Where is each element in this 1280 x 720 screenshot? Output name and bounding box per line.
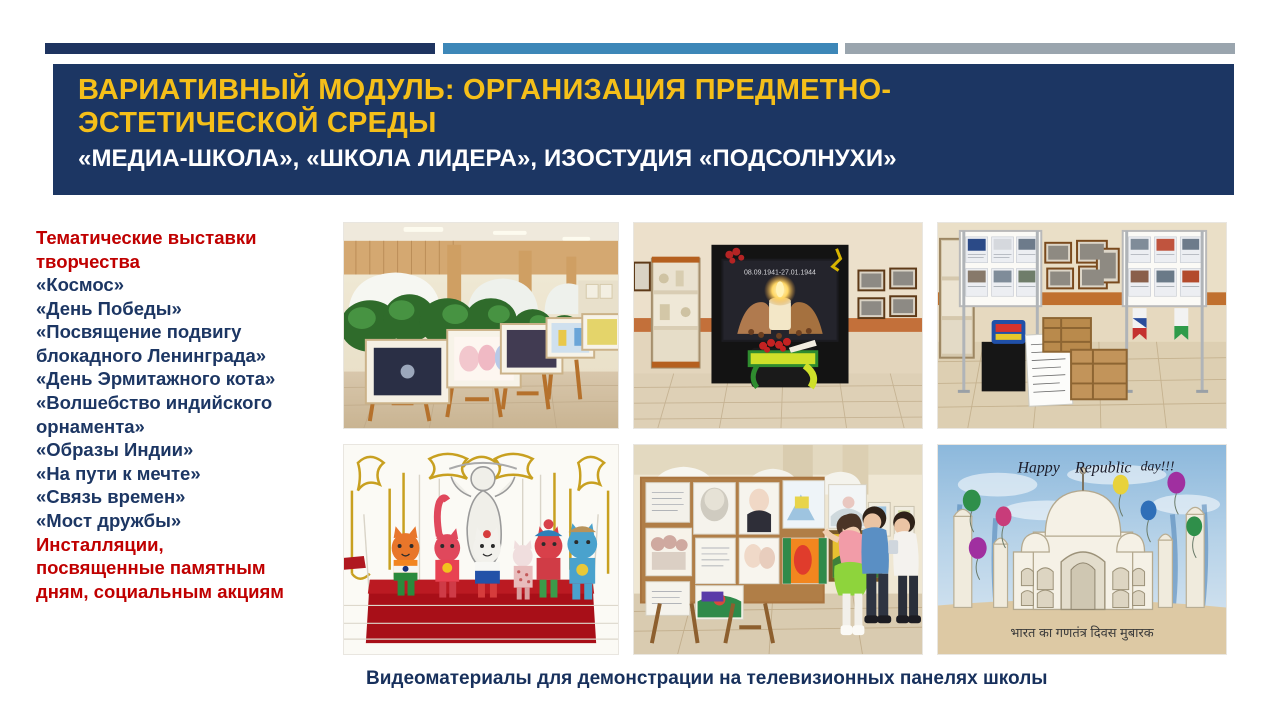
list-item: Инсталляции, bbox=[36, 533, 341, 557]
list-item: творчества bbox=[36, 250, 341, 274]
list-item: «На пути к мечте» bbox=[36, 462, 341, 486]
photo-document-exhibition bbox=[937, 222, 1227, 429]
list-item: «День Эрмитажного кота» bbox=[36, 367, 341, 391]
list-item: Тематические выставки bbox=[36, 226, 341, 250]
photo-row-2: Happy Republic day!!! भारत का गणतंत्र दि… bbox=[343, 444, 1227, 655]
svg-text:day!!!: day!!! bbox=[1141, 460, 1175, 475]
list-item: дням, социальным акциям bbox=[36, 580, 341, 604]
photo-row-1: 08.09.1941-27.01.1944 bbox=[343, 222, 1227, 429]
taj-bottom-inscription: भारत का गणतंत्र दिवस मुबारक bbox=[1010, 625, 1154, 641]
memorial-dates-text: 08.09.1941-27.01.1944 bbox=[744, 270, 816, 277]
svg-text:Republic: Republic bbox=[1074, 460, 1131, 477]
list-item: «Волшебство индийского bbox=[36, 391, 341, 415]
list-item: «Мост дружбы» bbox=[36, 509, 341, 533]
slide-title-line-1: ВАРИАТИВНЫЙ МОДУЛЬ: ОРГАНИЗАЦИЯ ПРЕДМЕТН… bbox=[78, 74, 891, 106]
list-item: «Образы Индии» bbox=[36, 438, 341, 462]
photo-grid: 08.09.1941-27.01.1944 bbox=[343, 222, 1227, 655]
list-item: «Связь времен» bbox=[36, 485, 341, 509]
photo-blockade-memorial: 08.09.1941-27.01.1944 bbox=[633, 222, 923, 429]
bottom-caption: Видеоматериалы для демонстрации на телев… bbox=[366, 668, 1048, 690]
photo-gallery-easels bbox=[343, 222, 619, 429]
list-item: посвященные памятным bbox=[36, 556, 341, 580]
list-item: «Космос» bbox=[36, 273, 341, 297]
slide-title-line-2: ЭСТЕТИЧЕСКОЙ СРЕДЫ bbox=[78, 107, 437, 139]
slide-header-band: ВАРИАТИВНЫЙ МОДУЛЬ: ОРГАНИЗАЦИЯ ПРЕДМЕТН… bbox=[53, 64, 1234, 195]
top-rule-gap-1 bbox=[435, 43, 443, 54]
top-rule-blue-segment bbox=[443, 43, 838, 54]
list-item: «Посвящение подвигу bbox=[36, 320, 341, 344]
top-rule-gray-segment bbox=[845, 43, 1235, 54]
top-rule-navy-segment bbox=[45, 43, 435, 54]
list-item: орнамента» bbox=[36, 415, 341, 439]
exhibition-list: Тематические выставки творчества «Космос… bbox=[36, 226, 341, 603]
photo-children-viewing-art bbox=[633, 444, 923, 655]
top-rule-strip bbox=[45, 43, 1235, 54]
taj-top-inscription: Happy bbox=[1016, 460, 1060, 477]
top-rule-gap-2 bbox=[838, 43, 845, 54]
list-item: блокадного Ленинграда» bbox=[36, 344, 341, 368]
photo-hermitage-cats-drawing bbox=[343, 444, 619, 655]
photo-taj-mahal-drawing: Happy Republic day!!! भारत का गणतंत्र दि… bbox=[937, 444, 1227, 655]
slide-subtitle: «МЕДИА-ШКОЛА», «ШКОЛА ЛИДЕРА», ИЗОСТУДИЯ… bbox=[78, 146, 1214, 172]
slide-title: ВАРИАТИВНЫЙ МОДУЛЬ: ОРГАНИЗАЦИЯ ПРЕДМЕТН… bbox=[78, 74, 1214, 140]
list-item: «День Победы» bbox=[36, 297, 341, 321]
